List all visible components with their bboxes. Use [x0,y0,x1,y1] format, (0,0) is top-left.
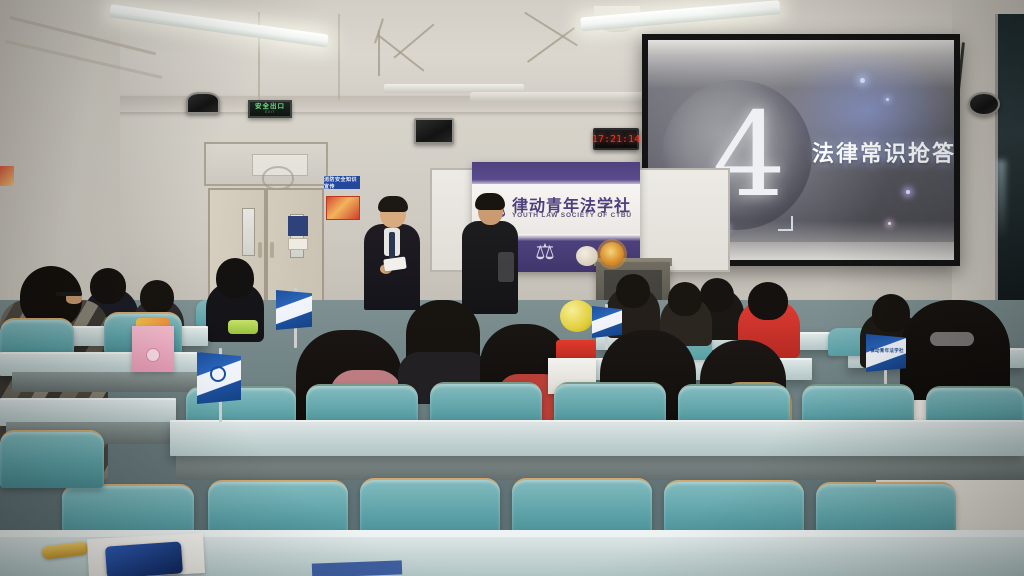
door-transom-window [204,142,328,186]
student-head [140,280,174,314]
led-wall-clock: 17:21:14 [593,128,639,150]
slide-star [886,98,889,101]
plush-lion-toy [600,242,624,266]
slide-corner-bracket-icon [778,216,793,231]
window-daylight-glow [996,160,1006,240]
yellow-balloon [560,300,594,332]
exit-sign-chinese: 安全出口 [255,103,285,110]
chair [0,430,104,488]
hoodie-sleeve-stripe [498,252,514,282]
slide-star [860,78,865,83]
safety-poster-blue: 消防安全知识宣传 [324,176,360,189]
door-vision-panel [242,208,255,256]
exit-sign-english: EXIT [265,110,275,115]
wall-speaker [186,92,220,114]
student-head [872,294,910,332]
wall-speaker [414,118,454,144]
door-notice-white [288,238,308,250]
table-flag-text: 律动青年法学社 [870,348,904,354]
desk-row-middle [170,420,1024,456]
snack-package [228,320,258,334]
transom-decal [262,166,294,190]
student-head [216,258,254,298]
door-handle[interactable] [258,242,262,258]
door-handle[interactable] [270,242,274,258]
presenter-in-suit [360,198,424,310]
student-head [616,274,650,308]
smartphone [105,541,183,576]
door-notice-blue [288,216,308,236]
emergency-exit-sign: 安全出口 EXIT [248,100,292,118]
gift-bag-seal [146,348,160,362]
slide-title: 法律常识抢答 [788,136,954,168]
presenter-hair [475,193,505,210]
table-flag-emblem [210,366,226,382]
table-flag [592,306,622,338]
banner-scales-icon: ⚖ [528,238,562,266]
screen-top-band [648,40,954,54]
student-head [748,282,788,320]
table-flag [276,290,312,330]
presenter-hair [378,196,408,212]
wall-conduit [338,14,340,100]
wall-poster-edge [0,166,14,186]
hair-tie [930,332,974,346]
desk-skirt [12,372,200,392]
slide-star [906,190,910,194]
clock-time: 17:21:14 [592,134,640,145]
student-head [90,268,126,304]
presenter-in-hoodie [462,196,520,314]
paper-sheet [312,560,402,576]
classroom-photo: 4 法律常识抢答 17:21:14 ⚖ 律动青年法学社 YOUTH LAW SO… [0,0,1024,576]
plush-bear-toy [576,246,598,266]
safety-poster-red [326,196,360,220]
student-head [668,282,702,316]
presenter-tie [389,232,395,258]
eyeglasses-icon [56,292,82,296]
desk-skirt [176,452,1024,480]
wall-speaker [968,92,1000,116]
slide-star [888,222,891,225]
safety-poster-text: 消防安全知识宣传 [324,176,360,190]
banner-english-name: YOUTH LAW SOCIETY OF CTBU [512,212,640,219]
